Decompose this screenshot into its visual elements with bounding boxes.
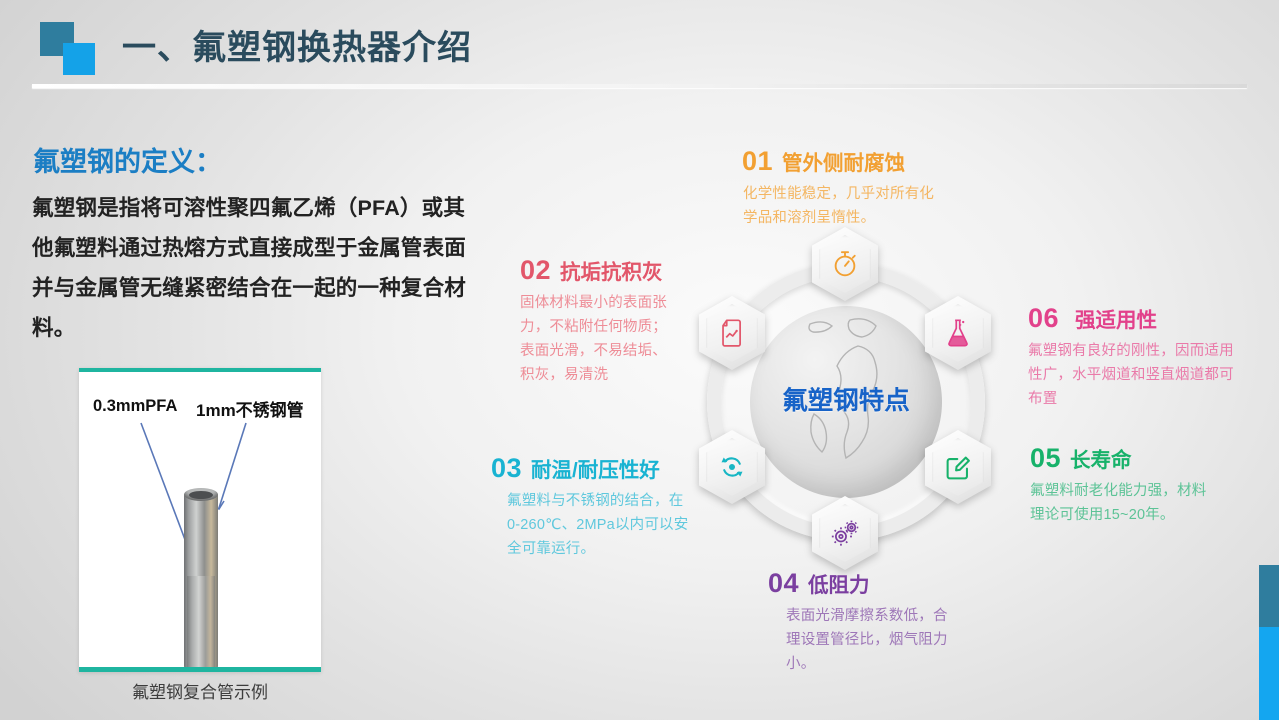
hex-recycle[interactable]: [699, 430, 765, 504]
feature-05-number: 05: [1030, 443, 1061, 473]
steel-tube-lower: [187, 576, 215, 668]
composite-pipe-photo: 0.3mmPFA 1mm不锈钢管: [79, 368, 321, 672]
photo-caption: 氟塑钢复合管示例: [79, 678, 321, 703]
wheel-center-label: 氟塑钢特点: [750, 380, 942, 417]
feature-02-body: 固体材料最小的表面张力，不粘附任何物质；表面光滑，不易结垢、积灰，易清洗: [520, 291, 670, 387]
feature-01: 01管外侧耐腐蚀 化学性能稳定，几乎对所有化学品和溶剂呈惰性。: [742, 148, 957, 230]
feature-03-body: 氟塑料与不锈钢的结合，在0-260℃、2MPa以内可以安全可靠运行。: [507, 489, 692, 561]
feature-06-number: 06: [1028, 303, 1059, 333]
hex-flask[interactable]: [925, 296, 991, 370]
globe-graphic: 氟塑钢特点: [750, 306, 942, 498]
feature-04-title: 低阻力: [808, 574, 870, 597]
feature-01-body: 化学性能稳定，几乎对所有化学品和溶剂呈惰性。: [743, 182, 943, 230]
feature-03: 03耐温/耐压性好 氟塑料与不锈钢的结合，在0-260℃、2MPa以内可以安全可…: [491, 455, 706, 561]
feature-06-body: 氟塑钢有良好的刚性，因而适用性广，水平烟道和竖直烟道都可布置: [1028, 339, 1243, 411]
gears-icon: [830, 519, 860, 547]
hex-edit[interactable]: [925, 430, 991, 504]
feature-06-title: 强适用性: [1075, 309, 1157, 332]
feature-06: 06强适用性 氟塑钢有良好的刚性，因而适用性广，水平烟道和竖直烟道都可布置: [1028, 305, 1253, 411]
feature-03-title: 耐温/耐压性好: [531, 459, 660, 482]
flask-icon: [944, 318, 972, 348]
feature-01-number: 01: [742, 146, 773, 176]
header-square-blue: [63, 43, 95, 75]
feature-04-body: 表面光滑摩擦系数低，合理设置管径比，烟气阻力小。: [786, 604, 961, 676]
page-title: 一、氟塑钢换热器介绍: [122, 20, 472, 69]
hex-stopwatch[interactable]: [812, 227, 878, 301]
definition-title: 氟塑钢的定义：: [33, 140, 222, 179]
feature-wheel: 氟塑钢特点: [689, 243, 1002, 563]
feature-05: 05长寿命 氟塑料耐老化能力强，材料理论可使用15~20年。: [1030, 445, 1245, 527]
stopwatch-icon: [830, 249, 860, 279]
document-chart-icon: [719, 318, 746, 348]
hex-gears[interactable]: [812, 496, 878, 570]
feature-02-title: 抗垢抗积灰: [560, 261, 663, 284]
corner-block-teal: [1259, 565, 1279, 627]
feature-04: 04低阻力 表面光滑摩擦系数低，合理设置管径比，烟气阻力小。: [768, 570, 968, 676]
feature-01-title: 管外侧耐腐蚀: [782, 152, 905, 175]
pencil-edit-icon: [944, 453, 973, 482]
feature-03-number: 03: [491, 453, 522, 483]
corner-block-blue: [1259, 627, 1279, 720]
hex-document[interactable]: [699, 296, 765, 370]
feature-02: 02抗垢抗积灰 固体材料最小的表面张力，不粘附任何物质；表面光滑，不易结垢、积灰…: [520, 257, 700, 387]
feature-05-body: 氟塑料耐老化能力强，材料理论可使用15~20年。: [1030, 479, 1220, 527]
feature-02-number: 02: [520, 255, 551, 285]
header-divider: [32, 84, 1247, 88]
photo-bottom-accent: [79, 667, 321, 672]
tube-bore: [189, 491, 213, 499]
recycle-arrows-icon: [717, 452, 747, 482]
feature-04-number: 04: [768, 568, 799, 598]
slide-root: 一、氟塑钢换热器介绍 氟塑钢的定义： 氟塑钢是指将可溶性聚四氟乙烯（PFA）或其…: [0, 0, 1279, 720]
definition-body: 氟塑钢是指将可溶性聚四氟乙烯（PFA）或其他氟塑料通过热熔方式直接成型于金属管表…: [32, 188, 482, 348]
feature-05-title: 长寿命: [1070, 449, 1132, 472]
